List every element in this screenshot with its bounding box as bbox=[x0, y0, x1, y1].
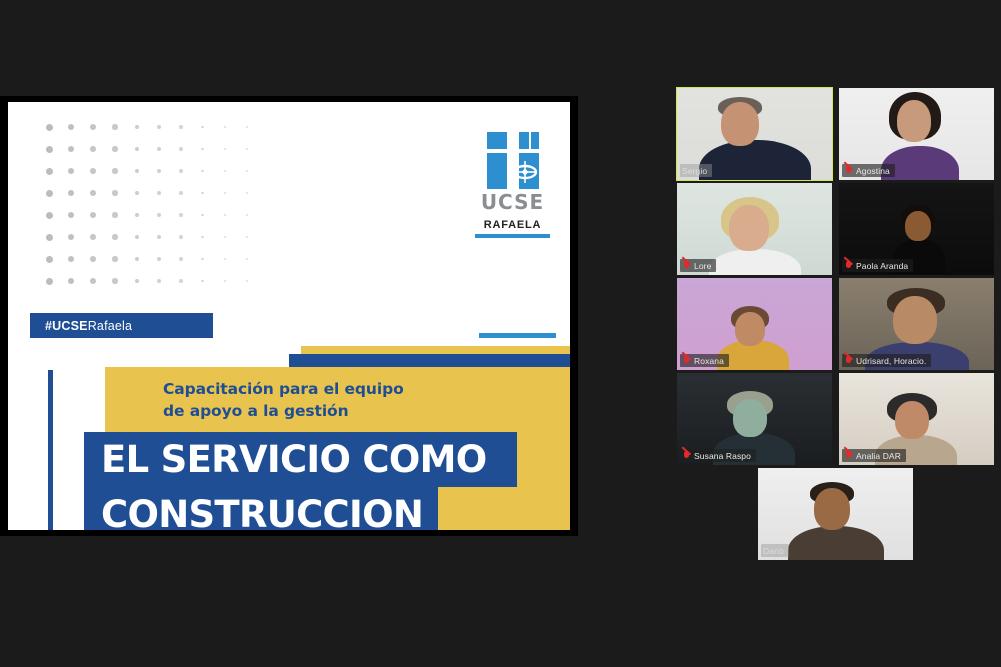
participant-tile[interactable]: Susana Raspo bbox=[677, 373, 832, 465]
participant-name-label: Dario bbox=[763, 546, 784, 556]
participant-name-badge: Sergio bbox=[680, 164, 712, 177]
slide-subtitle-line-1: Capacitación para el equipo bbox=[163, 378, 483, 400]
participant-head-shape bbox=[721, 102, 759, 146]
participant-head-shape bbox=[814, 488, 850, 530]
muted-microphone-icon bbox=[844, 451, 853, 461]
participant-tile[interactable]: Agostina bbox=[839, 88, 994, 180]
participant-name-label: Agostina bbox=[856, 166, 890, 176]
participant-head-shape bbox=[895, 401, 929, 439]
hashtag-ribbon: #UCSERafaela bbox=[30, 313, 213, 338]
participant-head-shape bbox=[905, 211, 931, 241]
decorative-light-blue-tick bbox=[479, 333, 556, 338]
participant-head-shape bbox=[897, 100, 931, 142]
muted-microphone-icon bbox=[844, 356, 853, 366]
decorative-yellow-stripe bbox=[301, 346, 570, 354]
participant-name-badge: Paola Aranda bbox=[842, 259, 913, 272]
participant-name-label: Paola Aranda bbox=[856, 261, 908, 271]
participant-gallery: SergioAgostinaLorePaola ArandaRoxanaUdri… bbox=[676, 88, 996, 572]
participant-tile[interactable]: Lore bbox=[677, 183, 832, 275]
decorative-dot-grid bbox=[38, 116, 278, 336]
participant-torso-shape bbox=[788, 526, 884, 560]
slide-subtitle: Capacitación para el equipo de apoyo a l… bbox=[163, 378, 483, 423]
presentation-slide: #UCSERafaela bbox=[8, 102, 570, 530]
participant-name-badge: Analia DAR bbox=[842, 449, 906, 462]
participant-head-shape bbox=[729, 205, 769, 251]
muted-microphone-icon bbox=[682, 356, 691, 366]
muted-microphone-icon bbox=[844, 261, 853, 271]
participant-head-shape bbox=[893, 296, 937, 344]
participant-name-badge: Agostina bbox=[842, 164, 895, 177]
slide-title-line-1: EL SERVICIO COMO bbox=[84, 432, 517, 487]
participant-name-label: Roxana bbox=[694, 356, 724, 366]
participant-name-badge: Dario bbox=[761, 544, 789, 557]
participant-tile[interactable]: Paola Aranda bbox=[839, 183, 994, 275]
participant-torso-shape bbox=[709, 249, 801, 275]
muted-microphone-icon bbox=[682, 451, 691, 461]
participant-name-label: Susana Raspo bbox=[694, 451, 751, 461]
participant-name-label: Udrisard, Horacio. bbox=[856, 356, 926, 366]
participant-name-badge: Roxana bbox=[680, 354, 729, 367]
participant-tile[interactable]: Analia DAR bbox=[839, 373, 994, 465]
hashtag-normal-text: Rafaela bbox=[88, 319, 133, 333]
participant-tile[interactable]: Sergio bbox=[677, 88, 832, 180]
slide-title-line-2: CONSTRUCCION bbox=[84, 487, 438, 530]
decorative-vertical-bar bbox=[48, 370, 53, 530]
participant-tile[interactable]: Roxana bbox=[677, 278, 832, 370]
video-conference-window: #UCSERafaela bbox=[0, 0, 1001, 667]
participant-torso-shape bbox=[699, 140, 811, 180]
participant-name-label: Sergio bbox=[682, 166, 707, 176]
muted-microphone-icon bbox=[682, 261, 691, 271]
hashtag-bold-text: #UCSE bbox=[45, 319, 88, 333]
participant-tile[interactable]: Udrisard, Horacio. bbox=[839, 278, 994, 370]
participant-name-badge: Udrisard, Horacio. bbox=[842, 354, 931, 367]
participant-name-badge: Lore bbox=[680, 259, 716, 272]
muted-microphone-icon bbox=[844, 166, 853, 176]
decorative-blue-stripe bbox=[289, 354, 570, 367]
ucse-logo-mark-icon bbox=[487, 132, 539, 189]
participant-head-shape bbox=[733, 399, 767, 437]
shared-screen-region[interactable]: #UCSERafaela bbox=[0, 96, 578, 536]
ucse-logo: UCSE RAFAELA bbox=[475, 132, 550, 238]
participant-name-badge: Susana Raspo bbox=[680, 449, 756, 462]
ucse-logo-underline bbox=[475, 234, 550, 238]
ucse-logo-wordmark: UCSE bbox=[475, 190, 550, 214]
participant-name-label: Lore bbox=[694, 261, 711, 271]
ucse-logo-campus: RAFAELA bbox=[475, 219, 550, 231]
participant-head-shape bbox=[735, 312, 765, 346]
slide-subtitle-line-2: de apoyo a la gestión bbox=[163, 400, 483, 422]
participant-name-label: Analia DAR bbox=[856, 451, 901, 461]
participant-tile[interactable]: Dario bbox=[758, 468, 913, 560]
